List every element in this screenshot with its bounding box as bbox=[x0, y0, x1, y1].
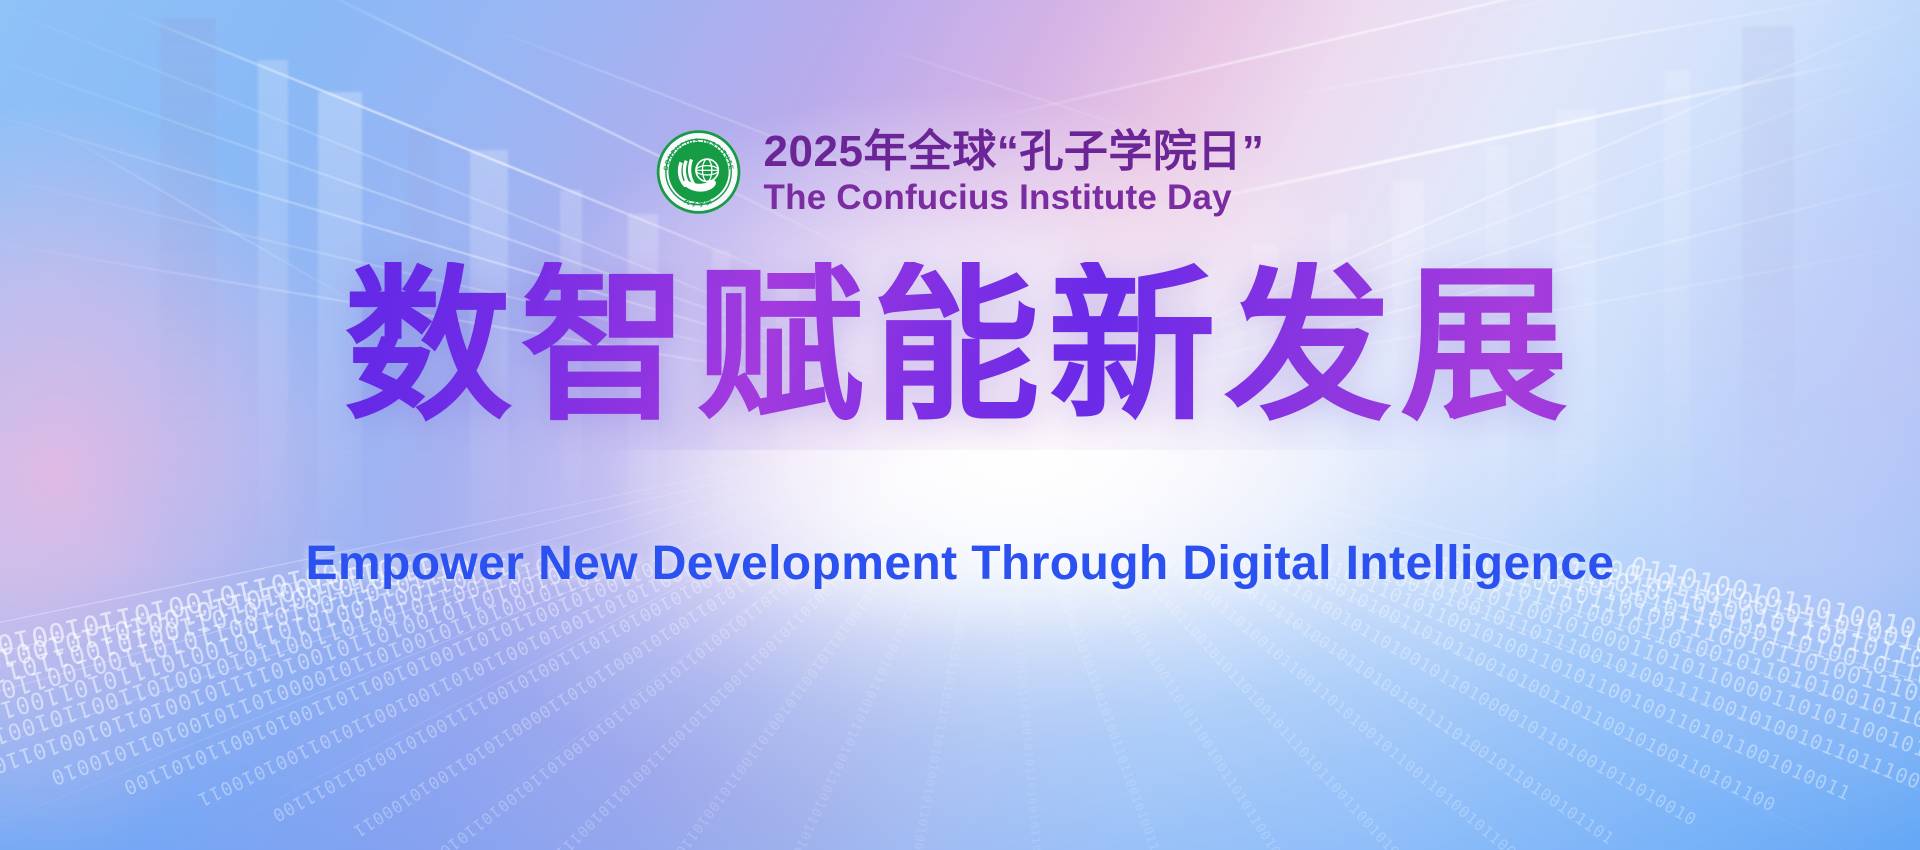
subtitle-english: Empower New Development Through Digital … bbox=[0, 535, 1920, 593]
banner-content: CONFUCIUS INSTITUTE bbox=[0, 0, 1920, 850]
header-lockup: CONFUCIUS INSTITUTE bbox=[656, 128, 1265, 217]
header-title-group: 2025年全球“孔子学院日” The Confucius Institute D… bbox=[764, 128, 1265, 217]
event-title-english: The Confucius Institute Day bbox=[764, 178, 1265, 217]
main-headline-chinese: 数智赋能新发展 bbox=[0, 262, 1920, 430]
promotional-banner: 1001011010010110100101101010010110100101… bbox=[0, 0, 1920, 850]
confucius-institute-logo-icon: CONFUCIUS INSTITUTE bbox=[656, 129, 742, 215]
event-title-chinese: 2025年全球“孔子学院日” bbox=[764, 128, 1265, 176]
